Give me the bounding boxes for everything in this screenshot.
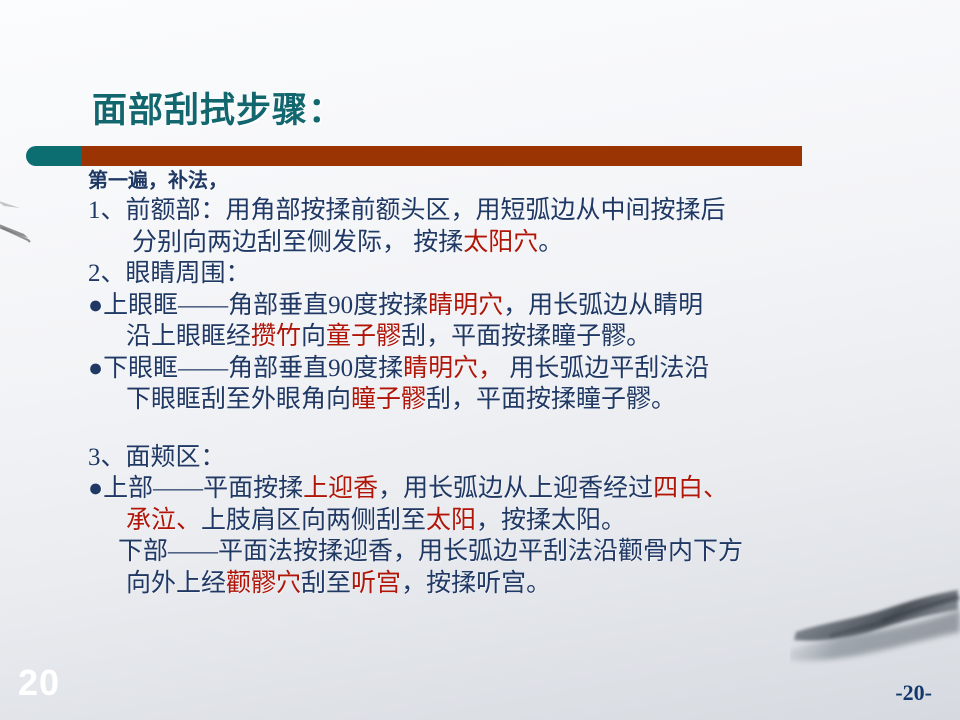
item3-bullet1-line1-mid: ，用长弧边从上迎香经过 [378, 475, 653, 502]
item2-bullet1-line2-pre: 沿上眼眶经 [126, 323, 251, 350]
item2-bullet2-line1-pre: ●下眼眶——角部垂直90度揉 [88, 355, 403, 382]
brush-stroke-decoration [0, 188, 74, 268]
item3-bullet2-highlight-tinggong: 听宫 [351, 570, 401, 597]
item2-heading: 2、眼睛周围： [88, 258, 950, 290]
item2-bullet2-highlight-tongziliao: 瞳子髎 [351, 386, 426, 413]
item1-line2-post: 。 [538, 229, 563, 256]
slide-body: 第一遍，补法， 1、前额部：用角部按揉前额头区，用短弧边从中间按揉后 分别向两边… [88, 168, 950, 599]
item3-bullet1-line2: 承泣、上肢肩区向两侧刮至太阳，按揉太阳。 [88, 505, 950, 537]
item1-line2-highlight: 太阳穴 [463, 229, 538, 256]
item3-bullet1-line2-post: ，按揉太阳。 [476, 507, 626, 534]
page-number-left: 20 [18, 662, 60, 704]
item3-bullet1-highlight-sibai: 四白、 [653, 475, 728, 502]
item3-bullet2-line2-pre: 向外上经 [126, 570, 226, 597]
item1-line2: 分别向两边刮至侧发际， 按揉太阳穴。 [88, 227, 950, 259]
item3-bullet1-line1-pre: ●上部——平面按揉 [88, 475, 303, 502]
item3-bullet1-highlight-chengqi: 承泣、 [126, 507, 201, 534]
item3-bullet1-highlight-taiyang: 太阳 [426, 507, 476, 534]
item2-bullet2-line2-post: 刮，平面按揉瞳子髎。 [426, 386, 676, 413]
item2-bullet2-line2-pre: 下眼眶刮至外眼角向 [126, 386, 351, 413]
slide-canvas: 面部刮拭步骤： 第一遍，补法， 1、前额部：用角部按揉前额头区，用短弧边从中间按… [0, 0, 960, 720]
divider-bar-cap [26, 146, 82, 166]
item2-bullet2-line2: 下眼眶刮至外眼角向瞳子髎刮，平面按揉瞳子髎。 [88, 384, 950, 416]
item2-bullet1-highlight-zuanzhu: 攒竹 [251, 323, 301, 350]
page-title: 面部刮拭步骤： [92, 82, 344, 133]
item2-bullet1-line2: 沿上眼眶经攒竹向童子髎刮，平面按揉瞳子髎。 [88, 321, 950, 353]
page-number-right: -20- [895, 680, 932, 706]
item3-bullet2-line2-mid: 刮至 [301, 570, 351, 597]
item2-bullet1-highlight-tongziliao: 童子髎 [326, 323, 401, 350]
item2-bullet2-line1-post: 用长弧边平刮法沿 [503, 355, 709, 382]
item3-bullet2-line2-post: ，按揉听宫。 [401, 570, 551, 597]
item2-bullet1-line2-post: 刮，平面按揉瞳子髎。 [401, 323, 651, 350]
item2-bullet1-line1-pre: ●上眼眶——角部垂直90度按揉 [88, 292, 428, 319]
item3-bullet1-line2-mid: 上肢肩区向两侧刮至 [201, 507, 426, 534]
item2-bullet2-line1: ●下眼眶——角部垂直90度揉睛明穴， 用长弧边平刮法沿 [88, 353, 950, 385]
item1-line1: 1、前额部：用角部按揉前额头区，用短弧边从中间按揉后 [88, 195, 950, 227]
item1-line2-pre: 分别向两边刮至侧发际， 按揉 [132, 229, 463, 256]
item2-bullet2-highlight-jingmingxue: 睛明穴， [403, 355, 503, 382]
item2-bullet1-line1: ●上眼眶——角部垂直90度按揉睛明穴，用长弧边从睛明 [88, 290, 950, 322]
section-spacer [88, 416, 950, 442]
lead-line: 第一遍，补法， [88, 168, 950, 194]
item2-bullet1-line1-post: ，用长弧边从睛明 [503, 292, 703, 319]
item2-bullet1-line2-mid: 向 [301, 323, 326, 350]
item3-heading: 3、面颊区： [88, 442, 950, 474]
item3-bullet2-line2: 向外上经颧髎穴刮至听宫，按揉听宫。 [88, 568, 950, 600]
item3-bullet2-line1: 下部——平面法按揉迎香，用长弧边平刮法沿颧骨内下方 [88, 536, 950, 568]
title-divider-bar [26, 146, 802, 166]
item3-bullet1-highlight-shangyingxiang: 上迎香 [303, 475, 378, 502]
divider-bar-body [82, 146, 802, 166]
item3-bullet1-line1: ●上部——平面按揉上迎香，用长弧边从上迎香经过四白、 [88, 473, 950, 505]
item3-bullet2-highlight-quanliaoxue: 颧髎穴 [226, 570, 301, 597]
item2-bullet1-highlight-jingmingxue: 睛明穴 [428, 292, 503, 319]
